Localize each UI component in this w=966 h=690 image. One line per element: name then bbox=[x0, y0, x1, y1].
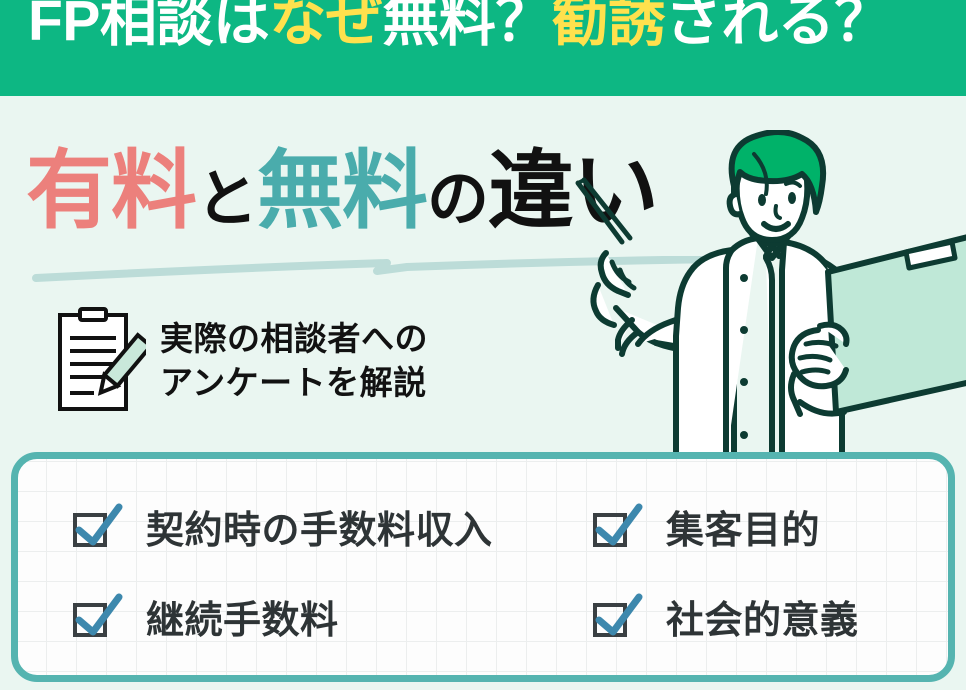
caption-text: 実際の相談者への アンケートを解説 bbox=[160, 317, 428, 405]
header-band: FP相談はなぜ無料？勧誘される？ bbox=[0, 0, 966, 96]
infographic-banner: FP相談はなぜ無料？勧誘される？ 有料と無料の違い 実際の相談者への アンケート… bbox=[0, 0, 966, 690]
header-text-part-4-highlight: 勧誘 bbox=[552, 0, 665, 53]
checkbox-checked-icon[interactable] bbox=[70, 592, 124, 640]
checklist-item-label: 継続手数料 bbox=[146, 589, 339, 644]
caption-line-2: アンケートを解説 bbox=[160, 361, 428, 405]
header-title: FP相談はなぜ無料？勧誘される？ bbox=[28, 0, 891, 55]
checklist-item-3[interactable]: 社会的意義 bbox=[590, 589, 948, 644]
main-title-part-yuryo: 有料 bbox=[26, 143, 196, 239]
checklist-box: 契約時の手数料収入 集客目的 継続手数料 bbox=[11, 452, 955, 682]
checkbox-checked-icon[interactable] bbox=[70, 502, 124, 550]
checklist-item-label: 集客目的 bbox=[666, 499, 820, 554]
checklist-item-1[interactable]: 集客目的 bbox=[590, 499, 948, 554]
checkbox-checked-icon[interactable] bbox=[590, 592, 644, 640]
checklist-item-0[interactable]: 契約時の手数料収入 bbox=[70, 499, 590, 554]
header-text-part-1: FP相談は bbox=[28, 0, 269, 53]
main-title-part-to: と bbox=[196, 165, 257, 234]
checkbox-checked-icon[interactable] bbox=[590, 502, 644, 550]
checklist-item-label: 社会的意義 bbox=[666, 589, 859, 644]
woman-presenter-illustration bbox=[560, 130, 966, 460]
pointer-stick-icon bbox=[578, 180, 630, 242]
main-title-part-muryo: 無料 bbox=[257, 143, 427, 239]
caption-line-1: 実際の相談者への bbox=[160, 317, 428, 361]
caption-block: 実際の相談者への アンケートを解説 bbox=[50, 305, 428, 417]
header-text-part-3: 無料？ bbox=[382, 0, 552, 53]
checklist-item-2[interactable]: 継続手数料 bbox=[70, 589, 590, 644]
main-title-part-no: の bbox=[427, 165, 488, 234]
checklist-item-label: 契約時の手数料収入 bbox=[146, 499, 493, 554]
clipboard-icon bbox=[828, 236, 966, 412]
header-text-part-5: される？ bbox=[665, 0, 891, 53]
clipboard-pencil-icon bbox=[50, 305, 146, 417]
header-text-part-2-highlight: なぜ bbox=[269, 0, 382, 53]
